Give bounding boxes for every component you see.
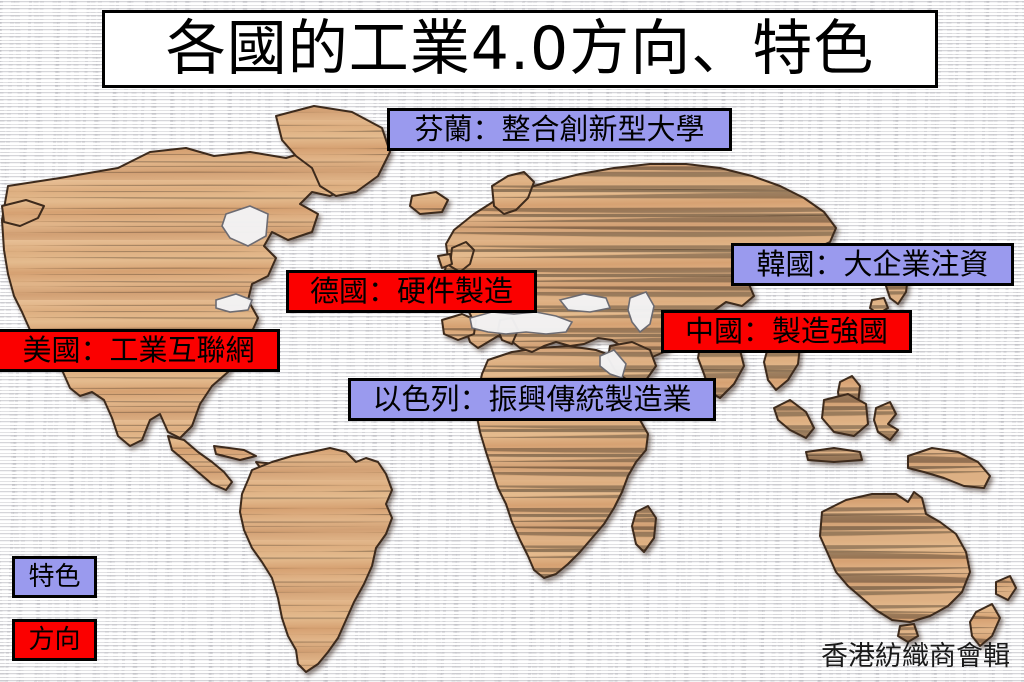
continent-australia [820, 492, 970, 622]
island-tasmania [898, 624, 918, 642]
island-ireland [438, 254, 452, 268]
island-new-zealand-south [970, 604, 1000, 646]
legend-item-direction[interactable]: 方向 [12, 619, 97, 661]
island-borneo [822, 394, 868, 436]
island-cuba [214, 446, 256, 460]
callout-finland[interactable]: 芬蘭：整合創新型大學 [387, 108, 732, 151]
island-sulawesi [874, 402, 898, 440]
island-sumatra [774, 400, 814, 438]
legend-item-feature[interactable]: 特色 [12, 556, 97, 598]
callout-germany[interactable]: 德國：硬件製造 [286, 270, 537, 313]
source-credit: 香港紡織商會輯 [821, 643, 1010, 670]
callout-germany-label: 德國：硬件製造 [310, 277, 513, 306]
page-title: 各國的工業4.0方向、特色 [166, 19, 874, 79]
island-madagascar [632, 506, 656, 552]
legend-feature-label: 特色 [28, 564, 80, 590]
callout-finland-label: 芬蘭：整合創新型大學 [414, 115, 704, 144]
callout-israel[interactable]: 以色列：振興傳統製造業 [348, 378, 716, 421]
callout-usa[interactable]: 美國：工業互聯網 [0, 329, 280, 372]
callout-usa-label: 美國：工業互聯網 [22, 336, 254, 365]
continent-iceland [410, 192, 448, 214]
callout-korea-label: 韓國：大企業注資 [756, 250, 988, 279]
island-new-zealand-north [996, 576, 1016, 600]
continent-south-america [240, 448, 392, 672]
callout-korea[interactable]: 韓國：大企業注資 [731, 243, 1014, 286]
callout-china-label: 中國：製造強國 [685, 317, 888, 346]
continent-central-america [168, 436, 232, 490]
island-java [806, 448, 862, 462]
slide-root: 各國的工業4.0方向、特色 芬蘭：整合創新型大學 韓國：大企業注資 德國：硬件製… [0, 0, 1024, 682]
island-new-guinea [908, 448, 990, 488]
callout-china[interactable]: 中國：製造強國 [661, 310, 912, 353]
callout-israel-label: 以色列：振興傳統製造業 [372, 385, 691, 414]
legend-direction-label: 方向 [28, 627, 80, 653]
slide-title-box: 各國的工業4.0方向、特色 [102, 10, 938, 88]
